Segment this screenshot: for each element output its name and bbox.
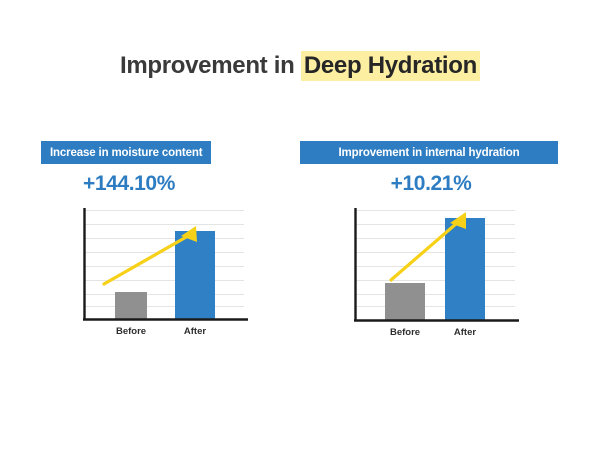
bar-chart-internal-hydration: Before After: [331, 206, 531, 326]
bar-chart-internal-hydration-svg: [331, 206, 531, 326]
gridlines: [84, 211, 244, 307]
x-axis-label-after: After: [439, 327, 491, 338]
bar-chart-moisture-content-svg: [60, 206, 260, 326]
metric-panel-moisture-content: Increase in moisture content +144.10%: [12, 0, 300, 450]
value-internal-hydration: +10.21%: [287, 172, 575, 196]
gridlines: [355, 211, 515, 307]
value-moisture-content: +144.10%: [0, 172, 273, 196]
bar-before: [385, 283, 425, 321]
x-axis-label-before: Before: [379, 327, 431, 338]
badge-internal-hydration: Improvement in internal hydration: [300, 141, 558, 164]
bar-after: [445, 218, 485, 321]
x-axis-label-after: After: [169, 326, 221, 337]
bar-before: [115, 292, 147, 320]
x-axis-label-before: Before: [105, 326, 157, 337]
metric-panel-internal-hydration: Improvement in internal hydration +10.21…: [300, 0, 588, 450]
bar-chart-moisture-content: Before After: [60, 206, 260, 326]
bar-after: [175, 231, 215, 320]
badge-moisture-content: Increase in moisture content: [41, 141, 211, 164]
